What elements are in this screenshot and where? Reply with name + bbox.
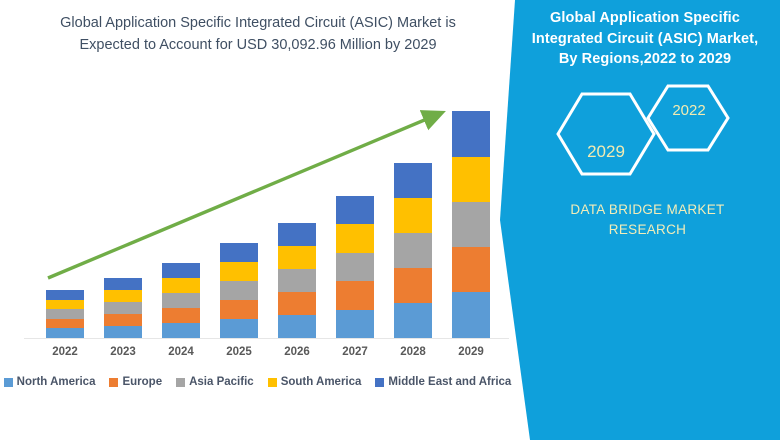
bar-segment-2024-europe xyxy=(162,308,200,323)
bar-2023 xyxy=(104,278,142,338)
bar-segment-2025-north-america xyxy=(220,319,258,338)
brand-line-2: RESEARCH xyxy=(525,220,770,240)
bar-segment-2027-middle-east-and-africa xyxy=(336,196,374,225)
bar-2028 xyxy=(394,163,432,338)
bar-segment-2024-asia-pacific xyxy=(162,293,200,308)
bar-segment-2024-south-america xyxy=(162,278,200,293)
bar-2025 xyxy=(220,243,258,338)
panel-title-line-3: By Regions,2022 to 2029 xyxy=(520,49,770,70)
bar-segment-2029-europe xyxy=(452,247,490,292)
legend-swatch-south-america xyxy=(268,378,277,387)
brand-name: DATA BRIDGE MARKET RESEARCH xyxy=(525,200,770,241)
bar-segment-2029-south-america xyxy=(452,157,490,202)
bar-segment-2022-asia-pacific xyxy=(46,309,84,319)
bar-segment-2024-middle-east-and-africa xyxy=(162,263,200,278)
hexagon-outlines xyxy=(540,82,770,187)
hexagon-2029-shape xyxy=(558,94,654,174)
legend-swatch-north-america xyxy=(4,378,13,387)
bar-segment-2025-asia-pacific xyxy=(220,281,258,300)
bar-2024 xyxy=(162,263,200,338)
chart-legend: North AmericaEuropeAsia PacificSouth Ame… xyxy=(0,376,515,388)
legend-item-north-america[interactable]: North America xyxy=(4,376,96,388)
bar-segment-2026-north-america xyxy=(278,315,316,338)
bar-segment-2023-north-america xyxy=(104,326,142,338)
legend-label-north-america: North America xyxy=(17,376,96,388)
bar-segment-2028-asia-pacific xyxy=(394,233,432,268)
bar-segment-2025-middle-east-and-africa xyxy=(220,243,258,262)
bar-2026 xyxy=(278,223,316,338)
hexagon-2022-label: 2022 xyxy=(650,102,728,119)
legend-label-south-america: South America xyxy=(281,376,362,388)
legend-label-asia-pacific: Asia Pacific xyxy=(189,376,254,388)
bar-segment-2026-europe xyxy=(278,292,316,315)
bar-segment-2028-europe xyxy=(394,268,432,303)
x-label-2025: 2025 xyxy=(210,346,268,358)
bar-segment-2022-middle-east-and-africa xyxy=(46,290,84,300)
legend-swatch-europe xyxy=(109,378,118,387)
hexagon-2029-label: 2029 xyxy=(562,142,650,162)
brand-panel: Global Application Specific Integrated C… xyxy=(490,0,780,440)
x-axis-labels: 20222023202420252026202720282029 xyxy=(0,346,515,366)
bar-segment-2022-europe xyxy=(46,319,84,329)
bar-segment-2029-north-america xyxy=(452,292,490,338)
legend-item-asia-pacific[interactable]: Asia Pacific xyxy=(176,376,254,388)
x-label-2026: 2026 xyxy=(268,346,326,358)
bar-segment-2027-south-america xyxy=(336,224,374,253)
bar-segment-2024-north-america xyxy=(162,323,200,338)
hexagon-badges: 2029 2022 xyxy=(540,82,770,187)
bar-segment-2025-europe xyxy=(220,300,258,319)
bar-segment-2027-asia-pacific xyxy=(336,253,374,282)
x-label-2028: 2028 xyxy=(384,346,442,358)
bar-segment-2027-north-america xyxy=(336,310,374,339)
legend-label-europe: Europe xyxy=(122,376,162,388)
legend-swatch-asia-pacific xyxy=(176,378,185,387)
x-label-2023: 2023 xyxy=(94,346,152,358)
bar-segment-2026-asia-pacific xyxy=(278,269,316,292)
stacked-bar-group xyxy=(0,0,515,440)
legend-swatch-middle-east-and-africa xyxy=(375,378,384,387)
bar-segment-2026-south-america xyxy=(278,246,316,269)
bar-segment-2025-south-america xyxy=(220,262,258,281)
panel-title: Global Application Specific Integrated C… xyxy=(520,8,770,70)
panel-title-line-2: Integrated Circuit (ASIC) Market, xyxy=(520,29,770,50)
bar-segment-2029-asia-pacific xyxy=(452,202,490,247)
x-label-2022: 2022 xyxy=(36,346,94,358)
x-label-2024: 2024 xyxy=(152,346,210,358)
bar-segment-2023-europe xyxy=(104,314,142,326)
panel-title-line-1: Global Application Specific xyxy=(520,8,770,29)
brand-line-1: DATA BRIDGE MARKET xyxy=(525,200,770,220)
bar-segment-2029-middle-east-and-africa xyxy=(452,111,490,157)
x-label-2027: 2027 xyxy=(326,346,384,358)
bar-segment-2028-north-america xyxy=(394,303,432,338)
bar-segment-2026-middle-east-and-africa xyxy=(278,223,316,246)
legend-item-europe[interactable]: Europe xyxy=(109,376,162,388)
bar-2022 xyxy=(46,290,84,338)
bar-segment-2023-asia-pacific xyxy=(104,302,142,314)
bar-segment-2023-middle-east-and-africa xyxy=(104,278,142,290)
bar-2027 xyxy=(336,196,374,339)
bar-segment-2028-middle-east-and-africa xyxy=(394,163,432,198)
bar-segment-2027-europe xyxy=(336,281,374,310)
bar-segment-2023-south-america xyxy=(104,290,142,302)
infographic-page: Global Application Specific Integrated C… xyxy=(0,0,780,440)
bar-segment-2028-south-america xyxy=(394,198,432,233)
bar-segment-2022-south-america xyxy=(46,300,84,310)
legend-item-south-america[interactable]: South America xyxy=(268,376,362,388)
bar-segment-2022-north-america xyxy=(46,328,84,338)
bar-2029 xyxy=(452,111,490,338)
